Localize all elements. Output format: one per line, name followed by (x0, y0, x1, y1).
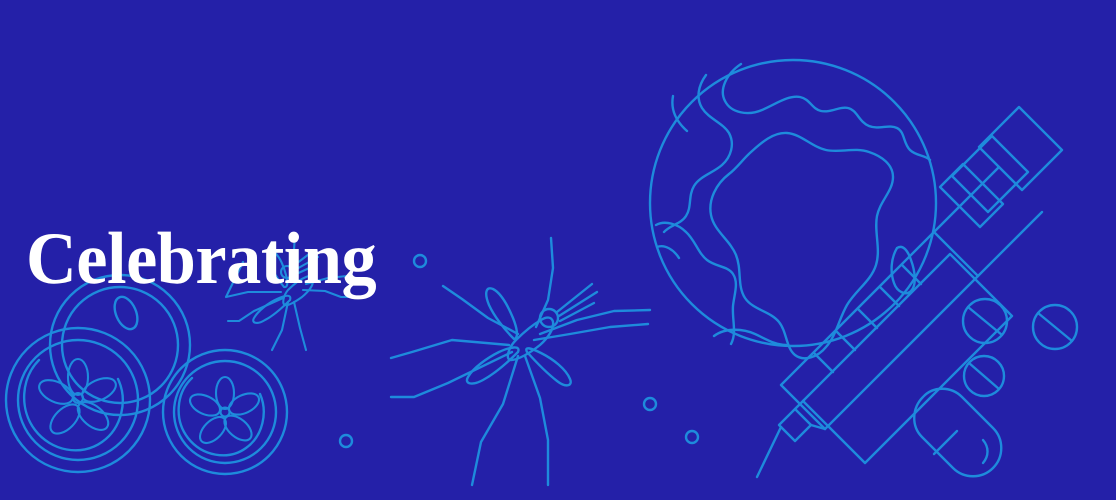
pill-round-1-icon (963, 299, 1007, 343)
pill-round-2-icon (964, 356, 1004, 396)
globe-icon (650, 60, 936, 358)
page-title: Celebrating 25 years in 2023 (26, 27, 501, 500)
headline-line-1: Celebrating (26, 213, 501, 306)
headline-line-2: 25 years in 2023 (26, 493, 501, 500)
dot-3 (644, 398, 656, 410)
celebration-banner: Celebrating 25 years in 2023 (0, 0, 1116, 500)
dot-4 (686, 431, 698, 443)
pill-round-3-icon (1033, 305, 1077, 349)
